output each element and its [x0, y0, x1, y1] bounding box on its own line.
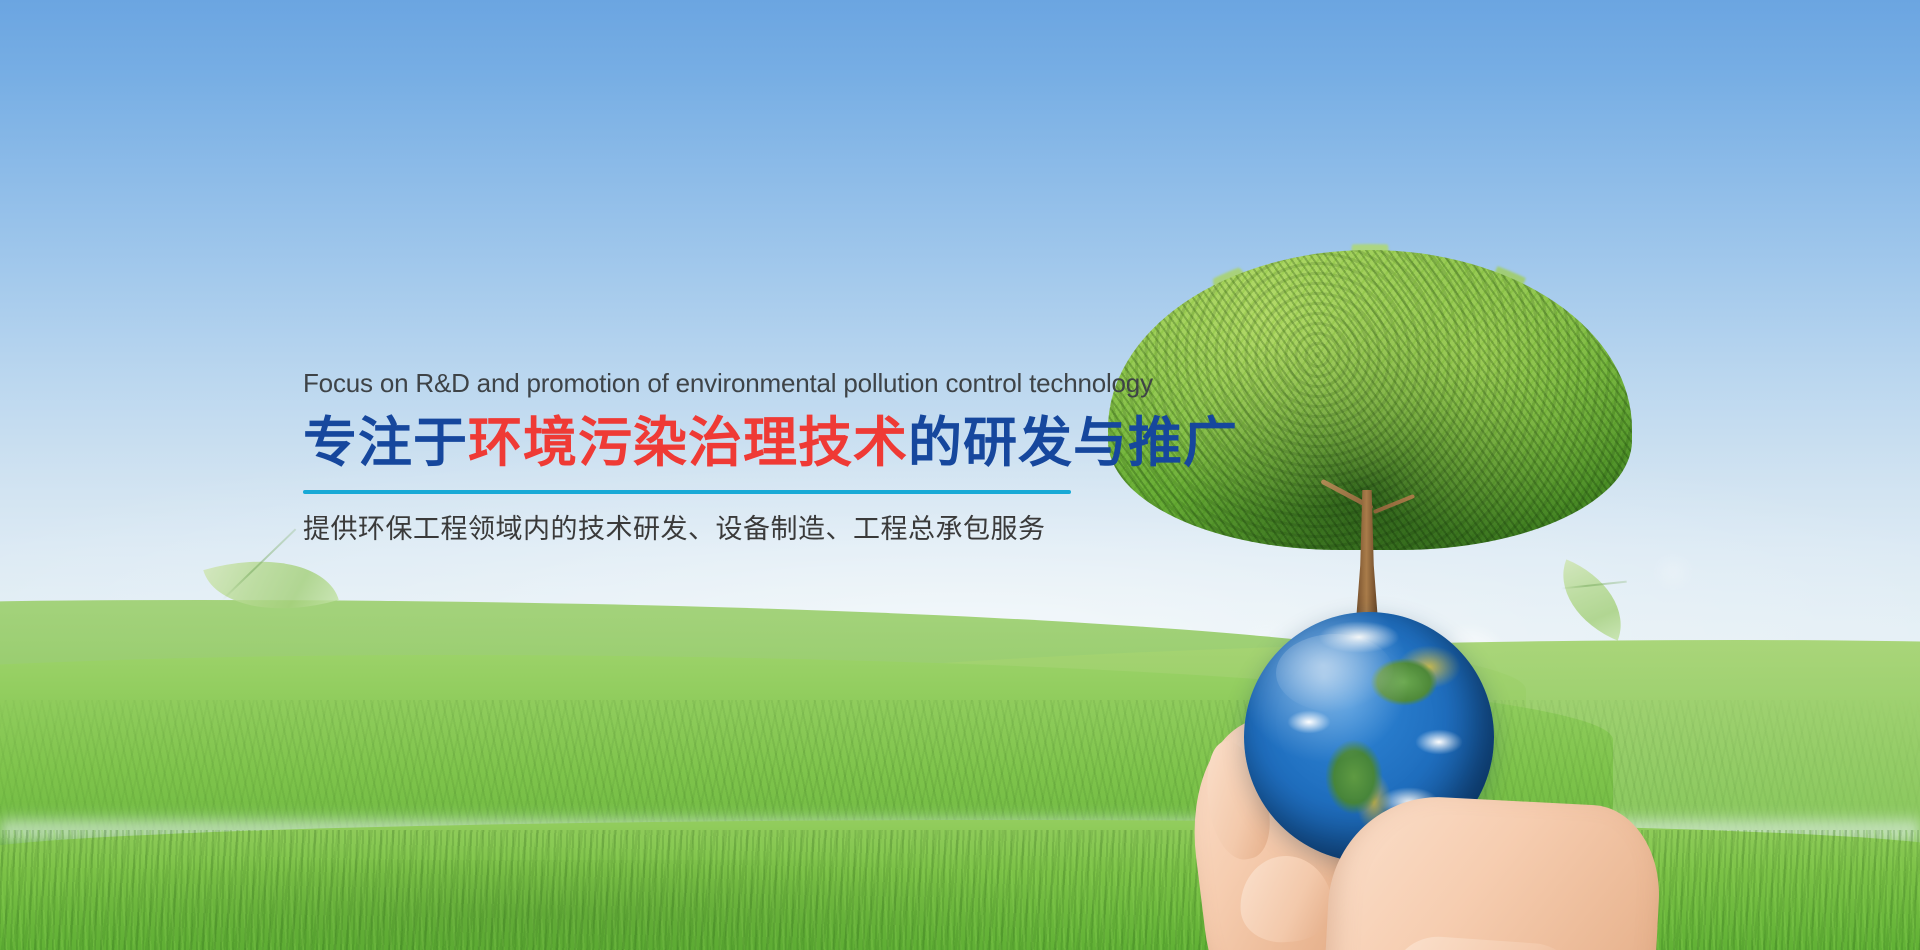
tree-globe-hands-illustration: [1090, 240, 1650, 950]
hero-copy-block: Focus on R&D and promotion of environmen…: [303, 368, 1103, 547]
hero-headline: 专注于环境污染治理技术的研发与推广: [303, 413, 1103, 473]
headline-suffix: 的研发与推广: [908, 413, 1238, 473]
headline-divider: [303, 490, 1071, 494]
hero-tagline: Focus on R&D and promotion of environmen…: [303, 368, 1103, 399]
headline-highlight: 环境污染治理技术: [468, 413, 908, 473]
bokeh-dot: [1660, 560, 1686, 584]
hero-subtitle: 提供环保工程领域内的技术研发、设备制造、工程总承包服务: [303, 512, 1103, 547]
globe-highlight: [1276, 634, 1394, 712]
headline-prefix: 专注于: [303, 413, 468, 473]
hero-banner: Focus on R&D and promotion of environmen…: [0, 0, 1920, 950]
